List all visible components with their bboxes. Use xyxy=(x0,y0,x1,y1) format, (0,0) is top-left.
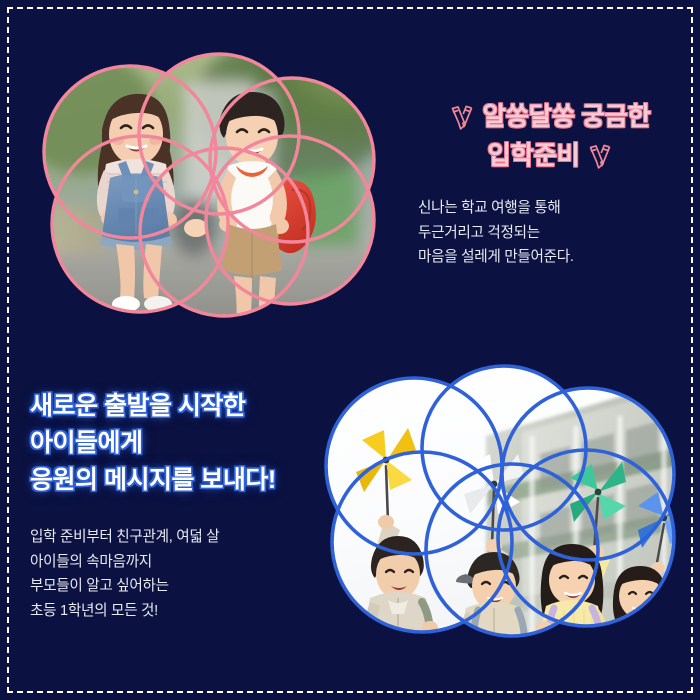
top-heading-line2: 입학준비 xyxy=(487,137,579,176)
bottom-body-line-2: 아이들의 속마음까지 xyxy=(30,550,330,575)
bottom-heading-line-1: 새로운 출발을 시작한 xyxy=(30,388,330,425)
top-heading: 알쏭달쏭 궁금한 입학준비 xyxy=(414,98,686,176)
top-body-line-2: 두근거리고 걱정되는 xyxy=(418,221,686,246)
photo-children-pinwheels xyxy=(326,362,676,650)
bottom-text-block: 새로운 출발을 시작한 아이들에게 응원의 메시지를 보내다! 입학 준비부터 … xyxy=(30,388,330,623)
top-body-line-1: 신나는 학교 여행을 통해 xyxy=(418,196,686,221)
top-text-block: 알쏭달쏭 궁금한 입학준비 xyxy=(414,98,686,270)
bottom-body-line-4: 초등 1학년의 모든 것! xyxy=(30,599,330,624)
bottom-heading: 새로운 출발을 시작한 아이들에게 응원의 메시지를 보내다! xyxy=(30,388,330,499)
bottom-body-line-3: 부모들이 알고 싶어하는 xyxy=(30,574,330,599)
bottom-body-line-1: 입학 준비부터 친구관계, 여덟 살 xyxy=(30,525,330,550)
bottom-heading-line-3: 응원의 메시지를 보내다! xyxy=(30,462,330,499)
bottom-heading-line-2: 아이들에게 xyxy=(30,425,330,462)
top-heading-line1: 알쏭달쏭 궁금한 xyxy=(482,98,650,137)
poster-canvas: 알쏭달쏭 궁금한 입학준비 xyxy=(0,0,700,700)
pencil-v-icon xyxy=(449,104,475,132)
top-body-line-3: 마음을 설레게 만들어준다. xyxy=(418,245,686,270)
photo-children-walking xyxy=(44,52,374,330)
bottom-body-copy: 입학 준비부터 친구관계, 여덟 살 아이들의 속마음까지 부모들이 알고 싶어… xyxy=(30,525,330,623)
top-body-copy: 신나는 학교 여행을 통해 두근거리고 걱정되는 마음을 설레게 만들어준다. xyxy=(414,196,686,270)
pencil-v-icon xyxy=(587,143,613,171)
